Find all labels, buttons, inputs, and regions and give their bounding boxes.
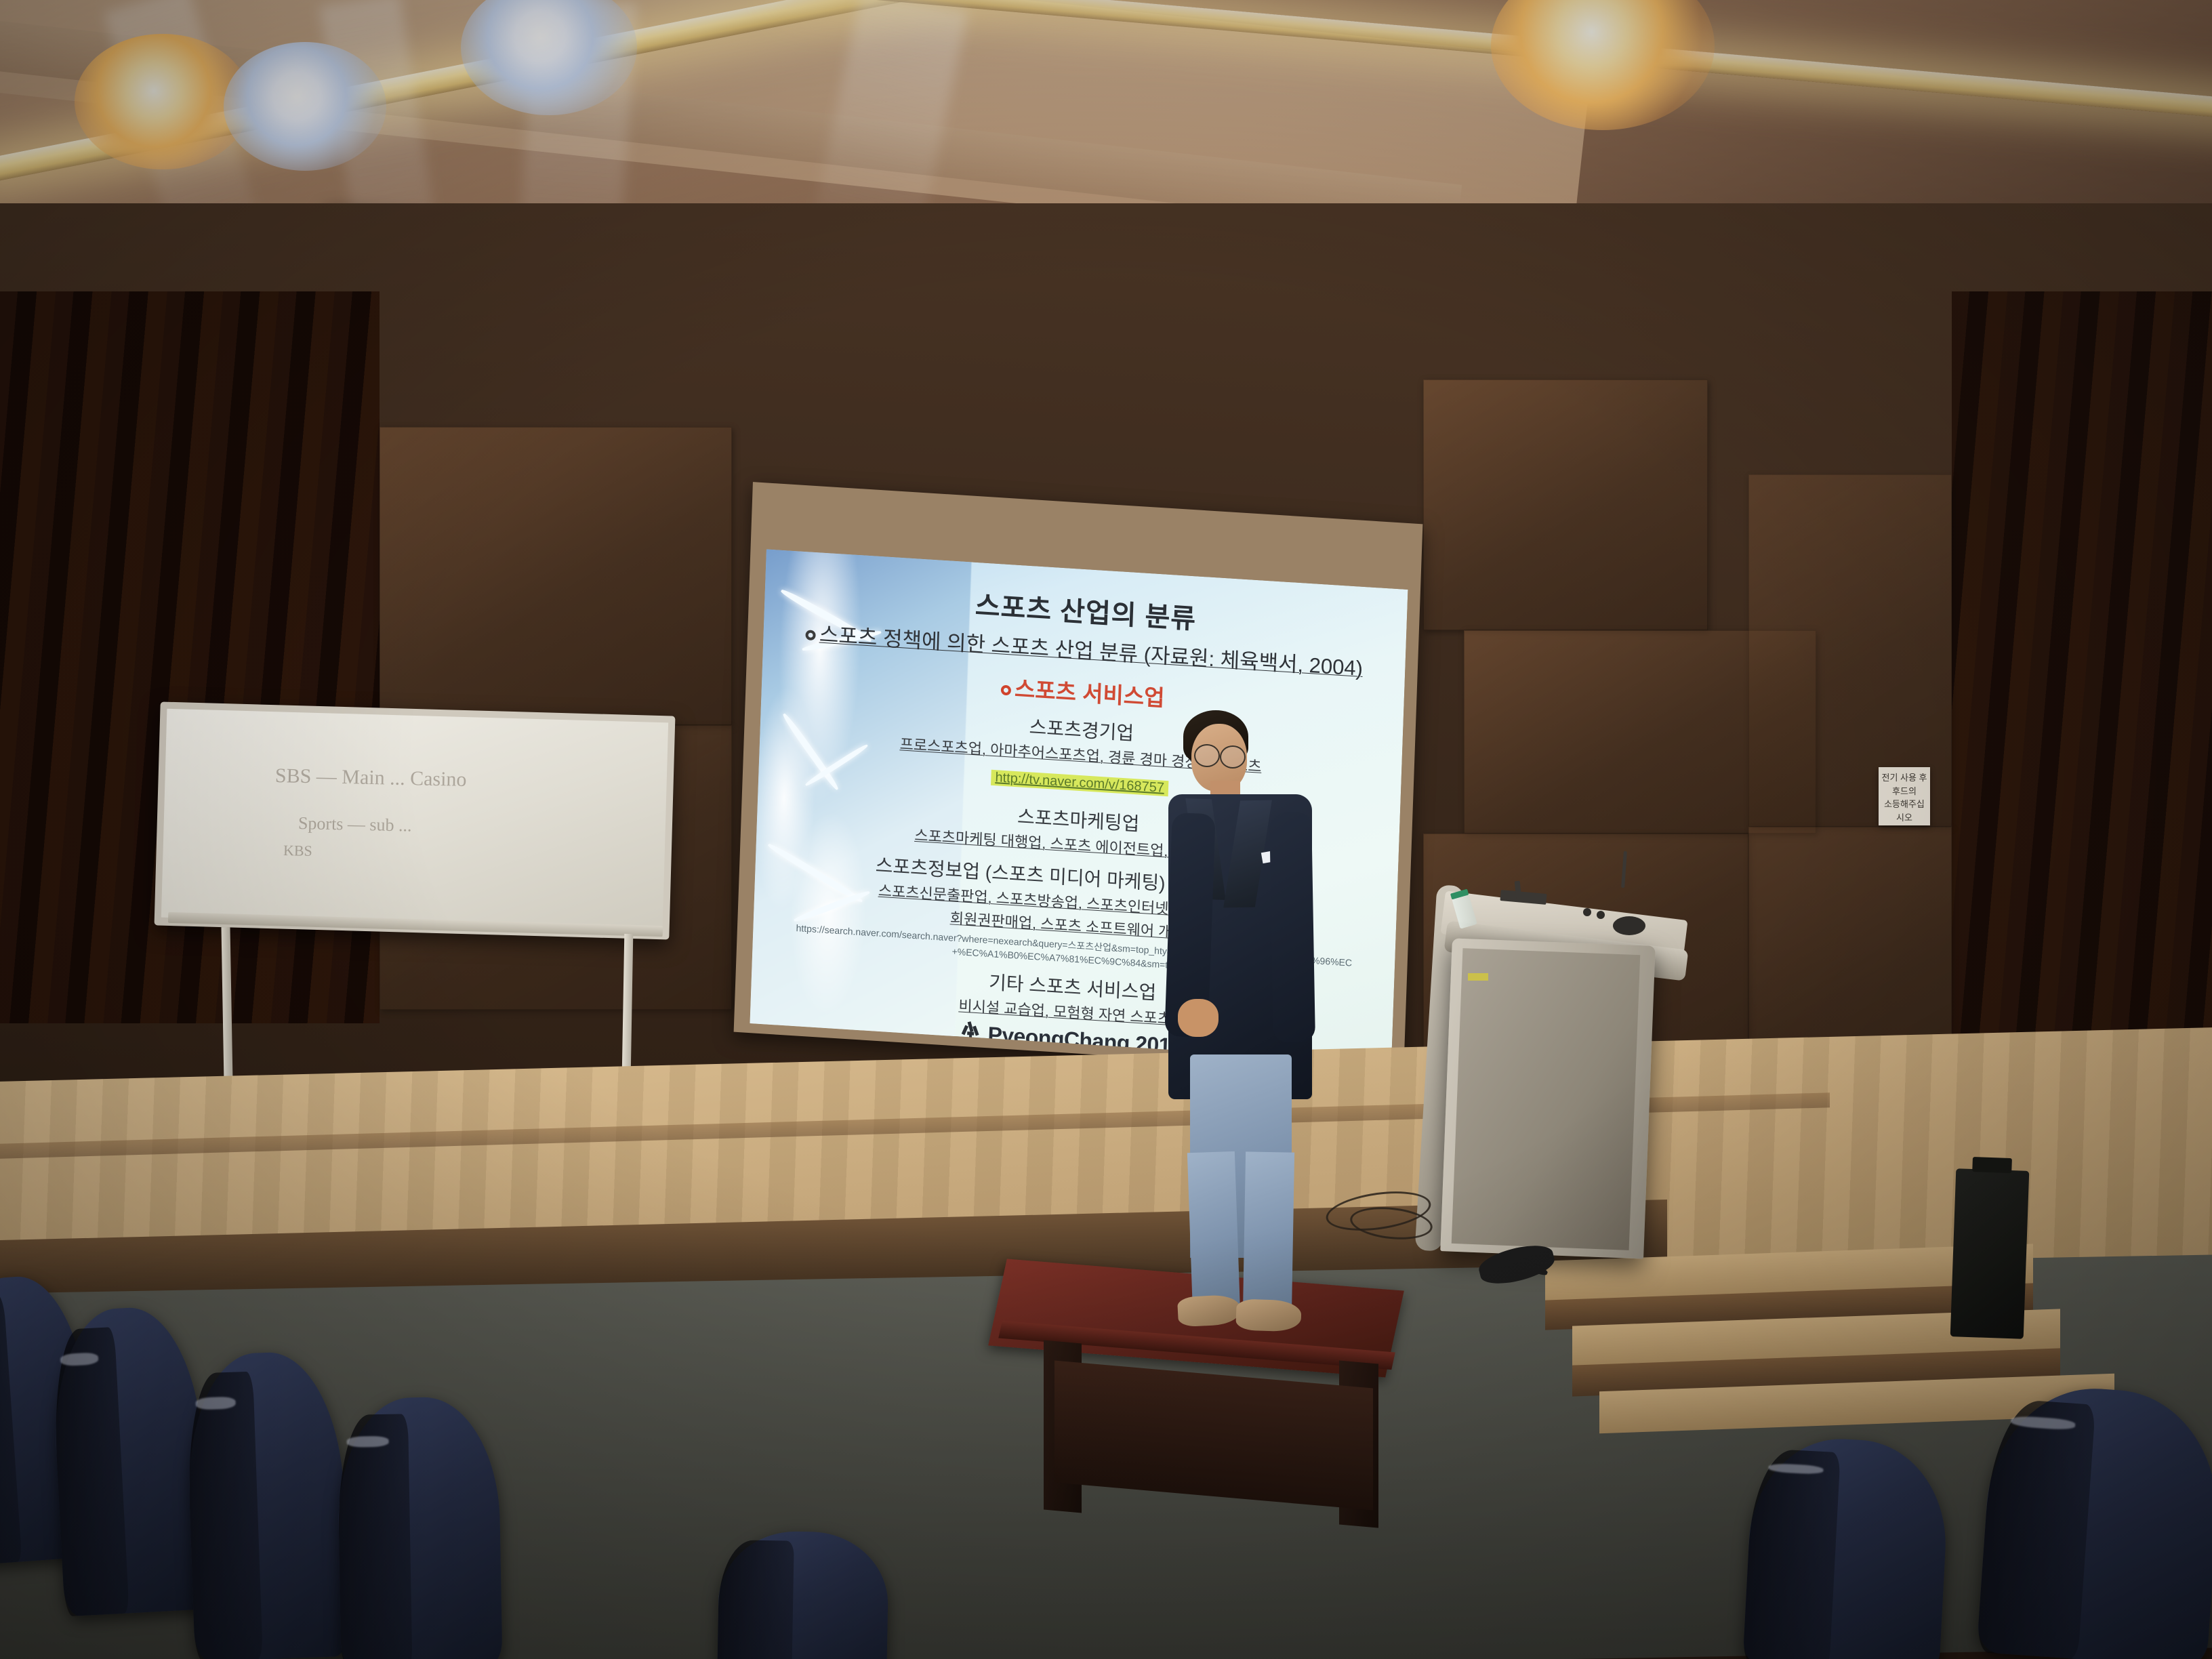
audience-seat-3[interactable] [184, 1350, 350, 1659]
seat-shadow [337, 1414, 412, 1659]
audience-seat-2[interactable] [49, 1305, 211, 1617]
bullet-dot-red-icon [1001, 684, 1011, 695]
lectern-knob-1[interactable] [1583, 908, 1591, 916]
sign-line-3: 소등해주십시오 [1881, 798, 1927, 824]
wall-panel-3 [1423, 380, 1708, 630]
whiteboard-surface[interactable] [161, 709, 668, 932]
seat-shadow [717, 1540, 794, 1659]
bullet-dot-icon [806, 630, 816, 640]
presenter-glasses-right [1220, 745, 1246, 769]
audience-seat-5[interactable] [717, 1530, 889, 1659]
equipment-bag[interactable] [1950, 1168, 2030, 1339]
presenter-shoe-right [1235, 1298, 1302, 1332]
audience-seat-7[interactable] [1976, 1382, 2212, 1659]
presenter-glasses [1194, 744, 1220, 767]
sign-line-2: 후드의 [1881, 785, 1927, 798]
lectern-mouse[interactable] [1613, 916, 1645, 935]
sign-line-1: 전기 사용 후 [1881, 771, 1927, 785]
whiteboard-ink-2: Sports — sub ... [298, 813, 412, 836]
ceiling-downlight-main [224, 42, 386, 171]
seat-shadow [1742, 1448, 1840, 1659]
presenter-leg-left [1187, 1151, 1240, 1315]
audience-seat-4[interactable] [337, 1396, 503, 1659]
auditorium-scene: 전기 사용 후 후드의 소등해주십시오 스포츠 산업의 분류 스포츠 정책에 의… [0, 0, 2212, 1659]
lectern-front-panel [1452, 948, 1641, 1250]
wall-panel-1 [380, 427, 732, 725]
audience-seat-6[interactable] [1742, 1435, 1950, 1659]
bag-handle [1972, 1157, 2012, 1173]
presenter-hand [1178, 999, 1218, 1037]
seat-shadow [185, 1372, 263, 1659]
seat-shadow [1976, 1398, 2095, 1659]
whiteboard-ink-1: SBS — Main ... Casino [275, 764, 467, 792]
seat-trim [347, 1436, 389, 1448]
presenter-leg-right [1243, 1151, 1294, 1316]
presenter-arm-right [1269, 811, 1315, 1042]
slide-heading-text: 스포츠 서비스업 [1015, 676, 1166, 711]
lectern-knob-2[interactable] [1597, 911, 1605, 919]
lectern-label [1468, 973, 1488, 981]
wall-notice-sign: 전기 사용 후 후드의 소등해주십시오 [1879, 767, 1930, 825]
whiteboard-ink-3: KBS [283, 842, 312, 860]
slide-link-green[interactable]: http://tv.naver.com/v/168757 [991, 769, 1168, 796]
